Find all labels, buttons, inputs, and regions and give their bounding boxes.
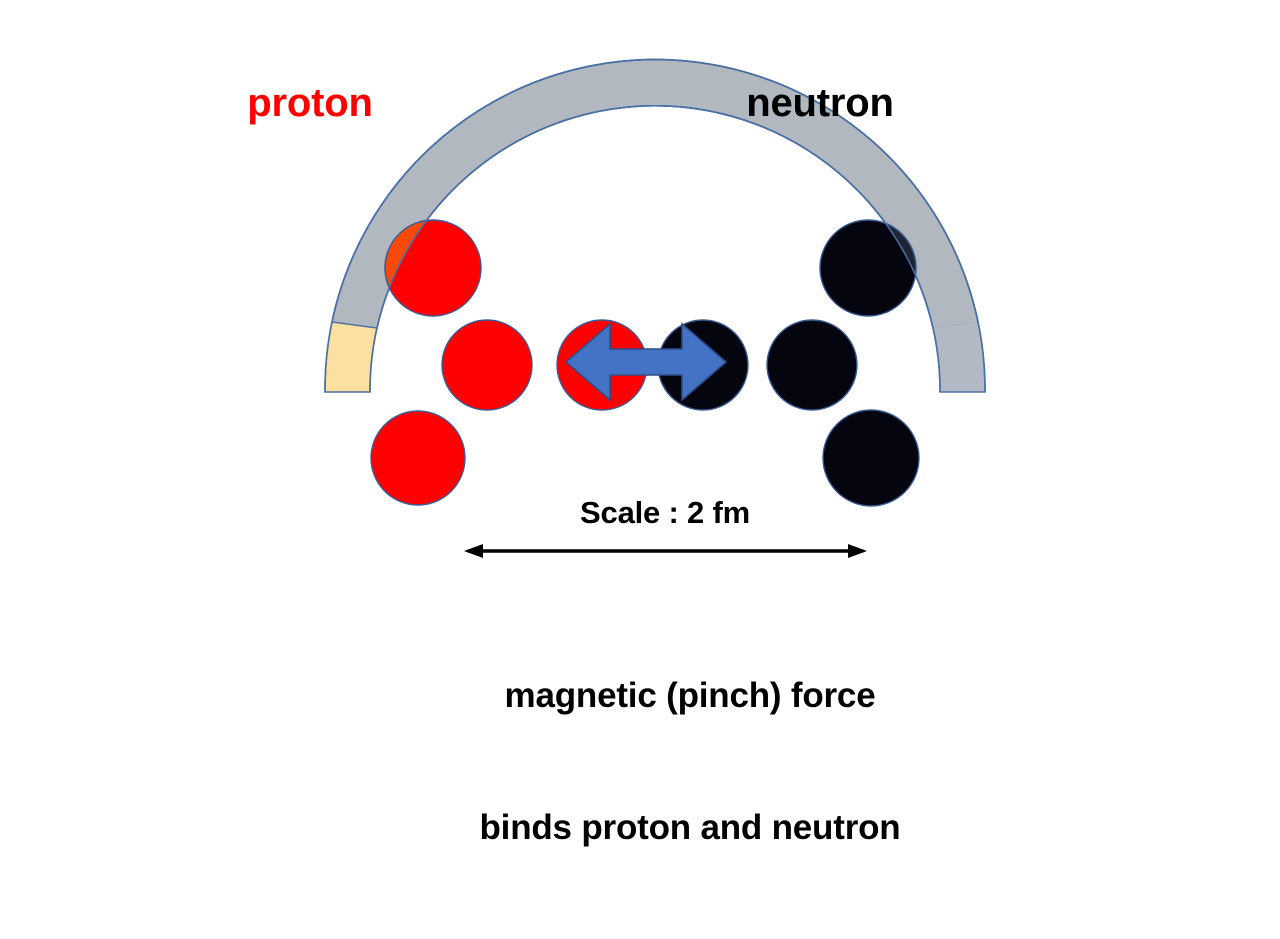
neutron-circle-bottom-right: [823, 410, 919, 506]
scale-label: Scale : 2 fm: [440, 497, 890, 528]
caption-line-1: magnetic (pinch) force: [340, 674, 1040, 718]
proton-circle-middle: [442, 320, 532, 410]
proton-circle-bottom-left: [371, 411, 465, 505]
neutron-label: neutron: [620, 83, 1020, 123]
proton-label: proton: [0, 83, 620, 123]
scale-bar-arrow: [464, 544, 867, 558]
scale-arrowhead-right: [848, 544, 867, 558]
caption-block: magnetic (pinch) force binds proton and …: [340, 586, 1040, 939]
caption-line-2: binds proton and neutron: [340, 806, 1040, 850]
diagram-canvas: proton neutron Scale : 2 fm magnetic (pi…: [0, 0, 1280, 720]
neutron-circle-middle: [767, 320, 857, 410]
scale-arrowhead-left: [464, 544, 483, 558]
